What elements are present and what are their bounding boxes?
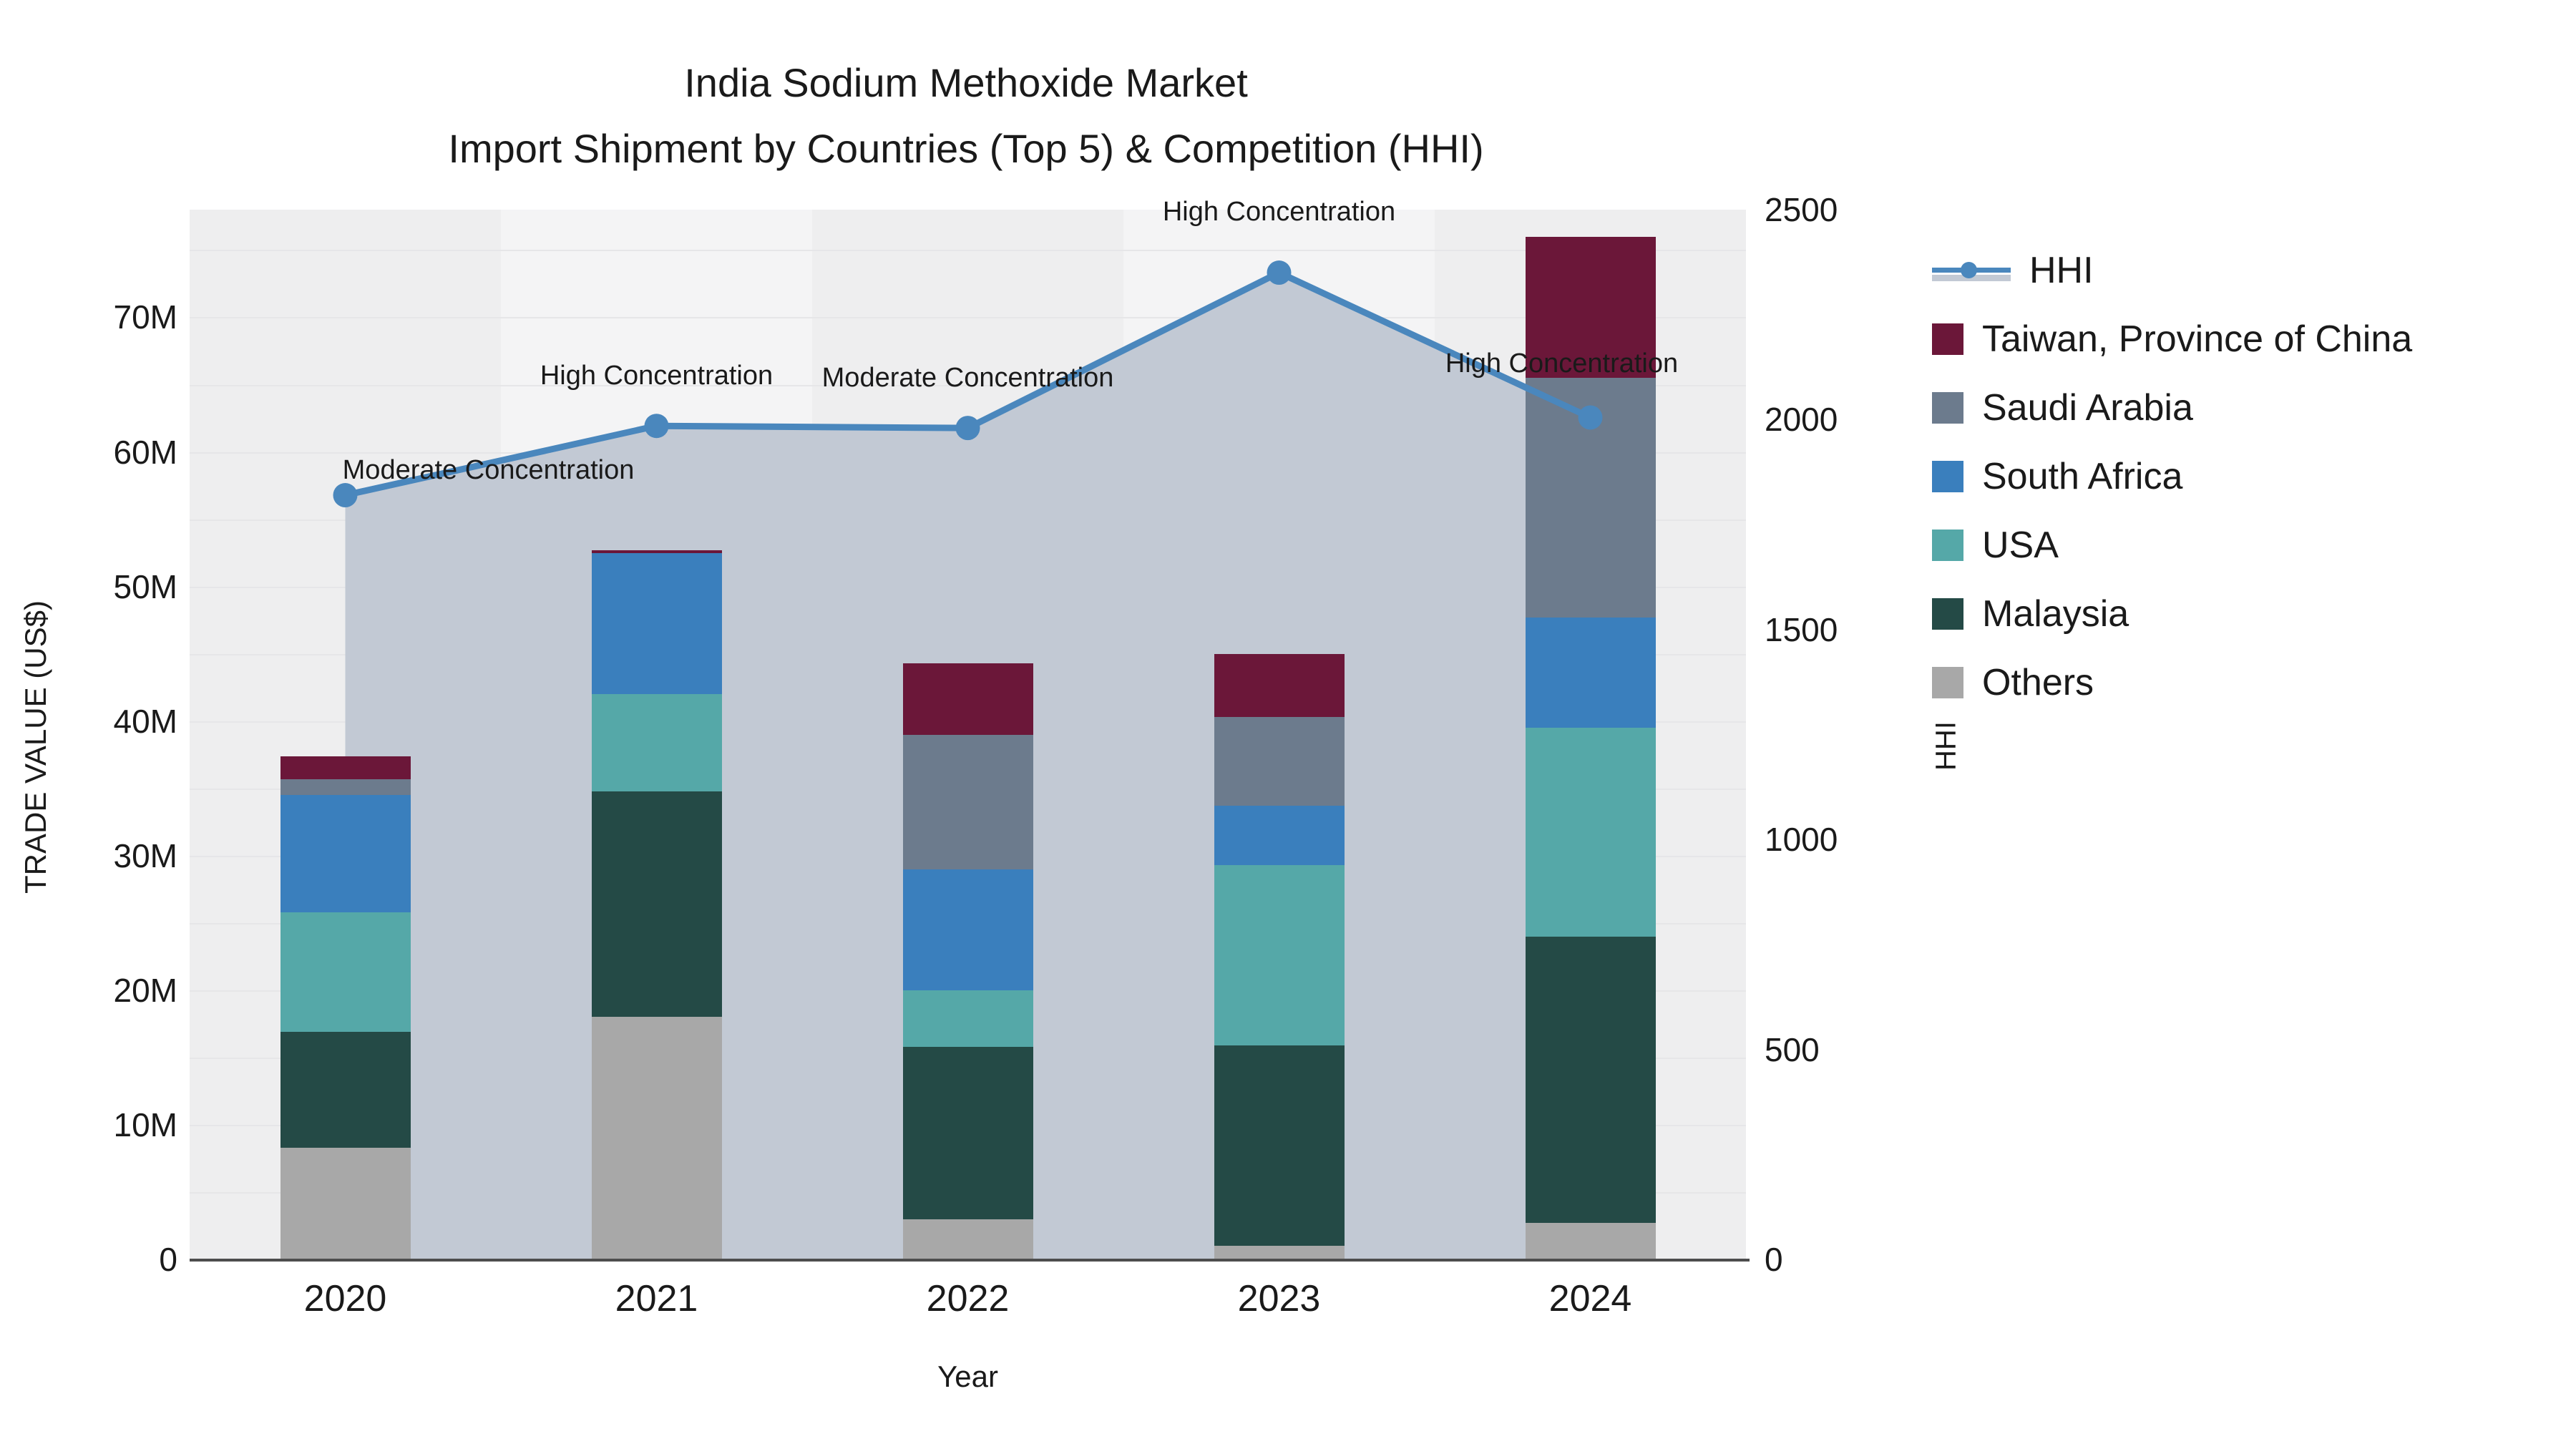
y-axis-left-tick-label: 60M <box>114 433 177 472</box>
y-axis-left-tick-label: 70M <box>114 298 177 336</box>
legend-color-swatch-icon <box>1932 598 1963 630</box>
y-axis-left-tick-label: 50M <box>114 567 177 606</box>
hhi-data-point[interactable] <box>956 416 980 440</box>
legend-item[interactable]: Saudi Arabia <box>1932 374 2412 442</box>
x-axis-line <box>190 1259 1750 1262</box>
legend-item-label: Taiwan, Province of China <box>1982 318 2412 361</box>
legend-item[interactable]: Malaysia <box>1932 580 2412 648</box>
legend-item-label: Saudi Arabia <box>1982 386 2193 429</box>
hhi-data-point[interactable] <box>645 414 669 438</box>
legend-color-swatch-icon <box>1932 323 1963 355</box>
x-axis-tick-label: 2024 <box>1549 1277 1632 1320</box>
hhi-data-point[interactable] <box>1579 405 1603 429</box>
concentration-annotation: High Concentration <box>1163 197 1395 228</box>
y-axis-right-tick-label: 2500 <box>1765 190 1838 229</box>
legend-item-label: USA <box>1982 524 2059 567</box>
hhi-data-point[interactable] <box>1267 260 1292 285</box>
concentration-annotation: High Concentration <box>540 361 773 391</box>
y-axis-left-title: TRADE VALUE (US$) <box>19 532 53 962</box>
y-axis-right-tick-label: 500 <box>1765 1030 1820 1069</box>
x-axis-title: Year <box>190 1360 1746 1394</box>
y-axis-left-tick-label: 30M <box>114 836 177 875</box>
chart-legend: HHITaiwan, Province of ChinaSaudi Arabia… <box>1932 236 2412 717</box>
chart-title-block: India Sodium Methoxide Market Import Shi… <box>0 50 1932 182</box>
x-axis-tick-label: 2022 <box>927 1277 1010 1320</box>
legend-item-label: HHI <box>2029 249 2094 292</box>
legend-line-marker-icon <box>1932 255 2011 286</box>
legend-item[interactable]: Taiwan, Province of China <box>1932 305 2412 374</box>
legend-color-swatch-icon <box>1932 392 1963 424</box>
concentration-annotation: High Concentration <box>1445 348 1678 379</box>
hhi-data-point[interactable] <box>333 483 358 507</box>
x-axis-tick-label: 2021 <box>615 1277 698 1320</box>
y-axis-right-tick-label: 0 <box>1765 1240 1783 1279</box>
legend-item[interactable]: HHI <box>1932 236 2412 305</box>
legend-item-label: Malaysia <box>1982 592 2129 635</box>
concentration-annotation: Moderate Concentration <box>343 455 635 486</box>
legend-item[interactable]: USA <box>1932 511 2412 580</box>
y-axis-left-tick-label: 0 <box>159 1240 177 1279</box>
legend-item[interactable]: Others <box>1932 648 2412 717</box>
legend-color-swatch-icon <box>1932 461 1963 492</box>
chart-title-line-2: Import Shipment by Countries (Top 5) & C… <box>0 116 1932 182</box>
concentration-annotation: Moderate Concentration <box>822 363 1114 394</box>
y-axis-left-tick-label: 40M <box>114 702 177 741</box>
legend-item-label: South Africa <box>1982 455 2182 498</box>
chart-root: India Sodium Methoxide Market Import Shi… <box>0 0 2576 1449</box>
y-axis-left-tick-label: 10M <box>114 1106 177 1144</box>
legend-item-label: Others <box>1982 661 2094 704</box>
legend-color-swatch-icon <box>1932 667 1963 698</box>
x-axis-tick-label: 2023 <box>1238 1277 1321 1320</box>
y-axis-right-tick-label: 2000 <box>1765 400 1838 439</box>
legend-color-swatch-icon <box>1932 530 1963 561</box>
x-axis-tick-label: 2020 <box>304 1277 387 1320</box>
y-axis-right-tick-label: 1000 <box>1765 820 1838 859</box>
chart-title-line-1: India Sodium Methoxide Market <box>0 50 1932 116</box>
y-axis-right-tick-label: 1500 <box>1765 610 1838 649</box>
y-axis-left-tick-label: 20M <box>114 971 177 1010</box>
legend-item[interactable]: South Africa <box>1932 442 2412 511</box>
